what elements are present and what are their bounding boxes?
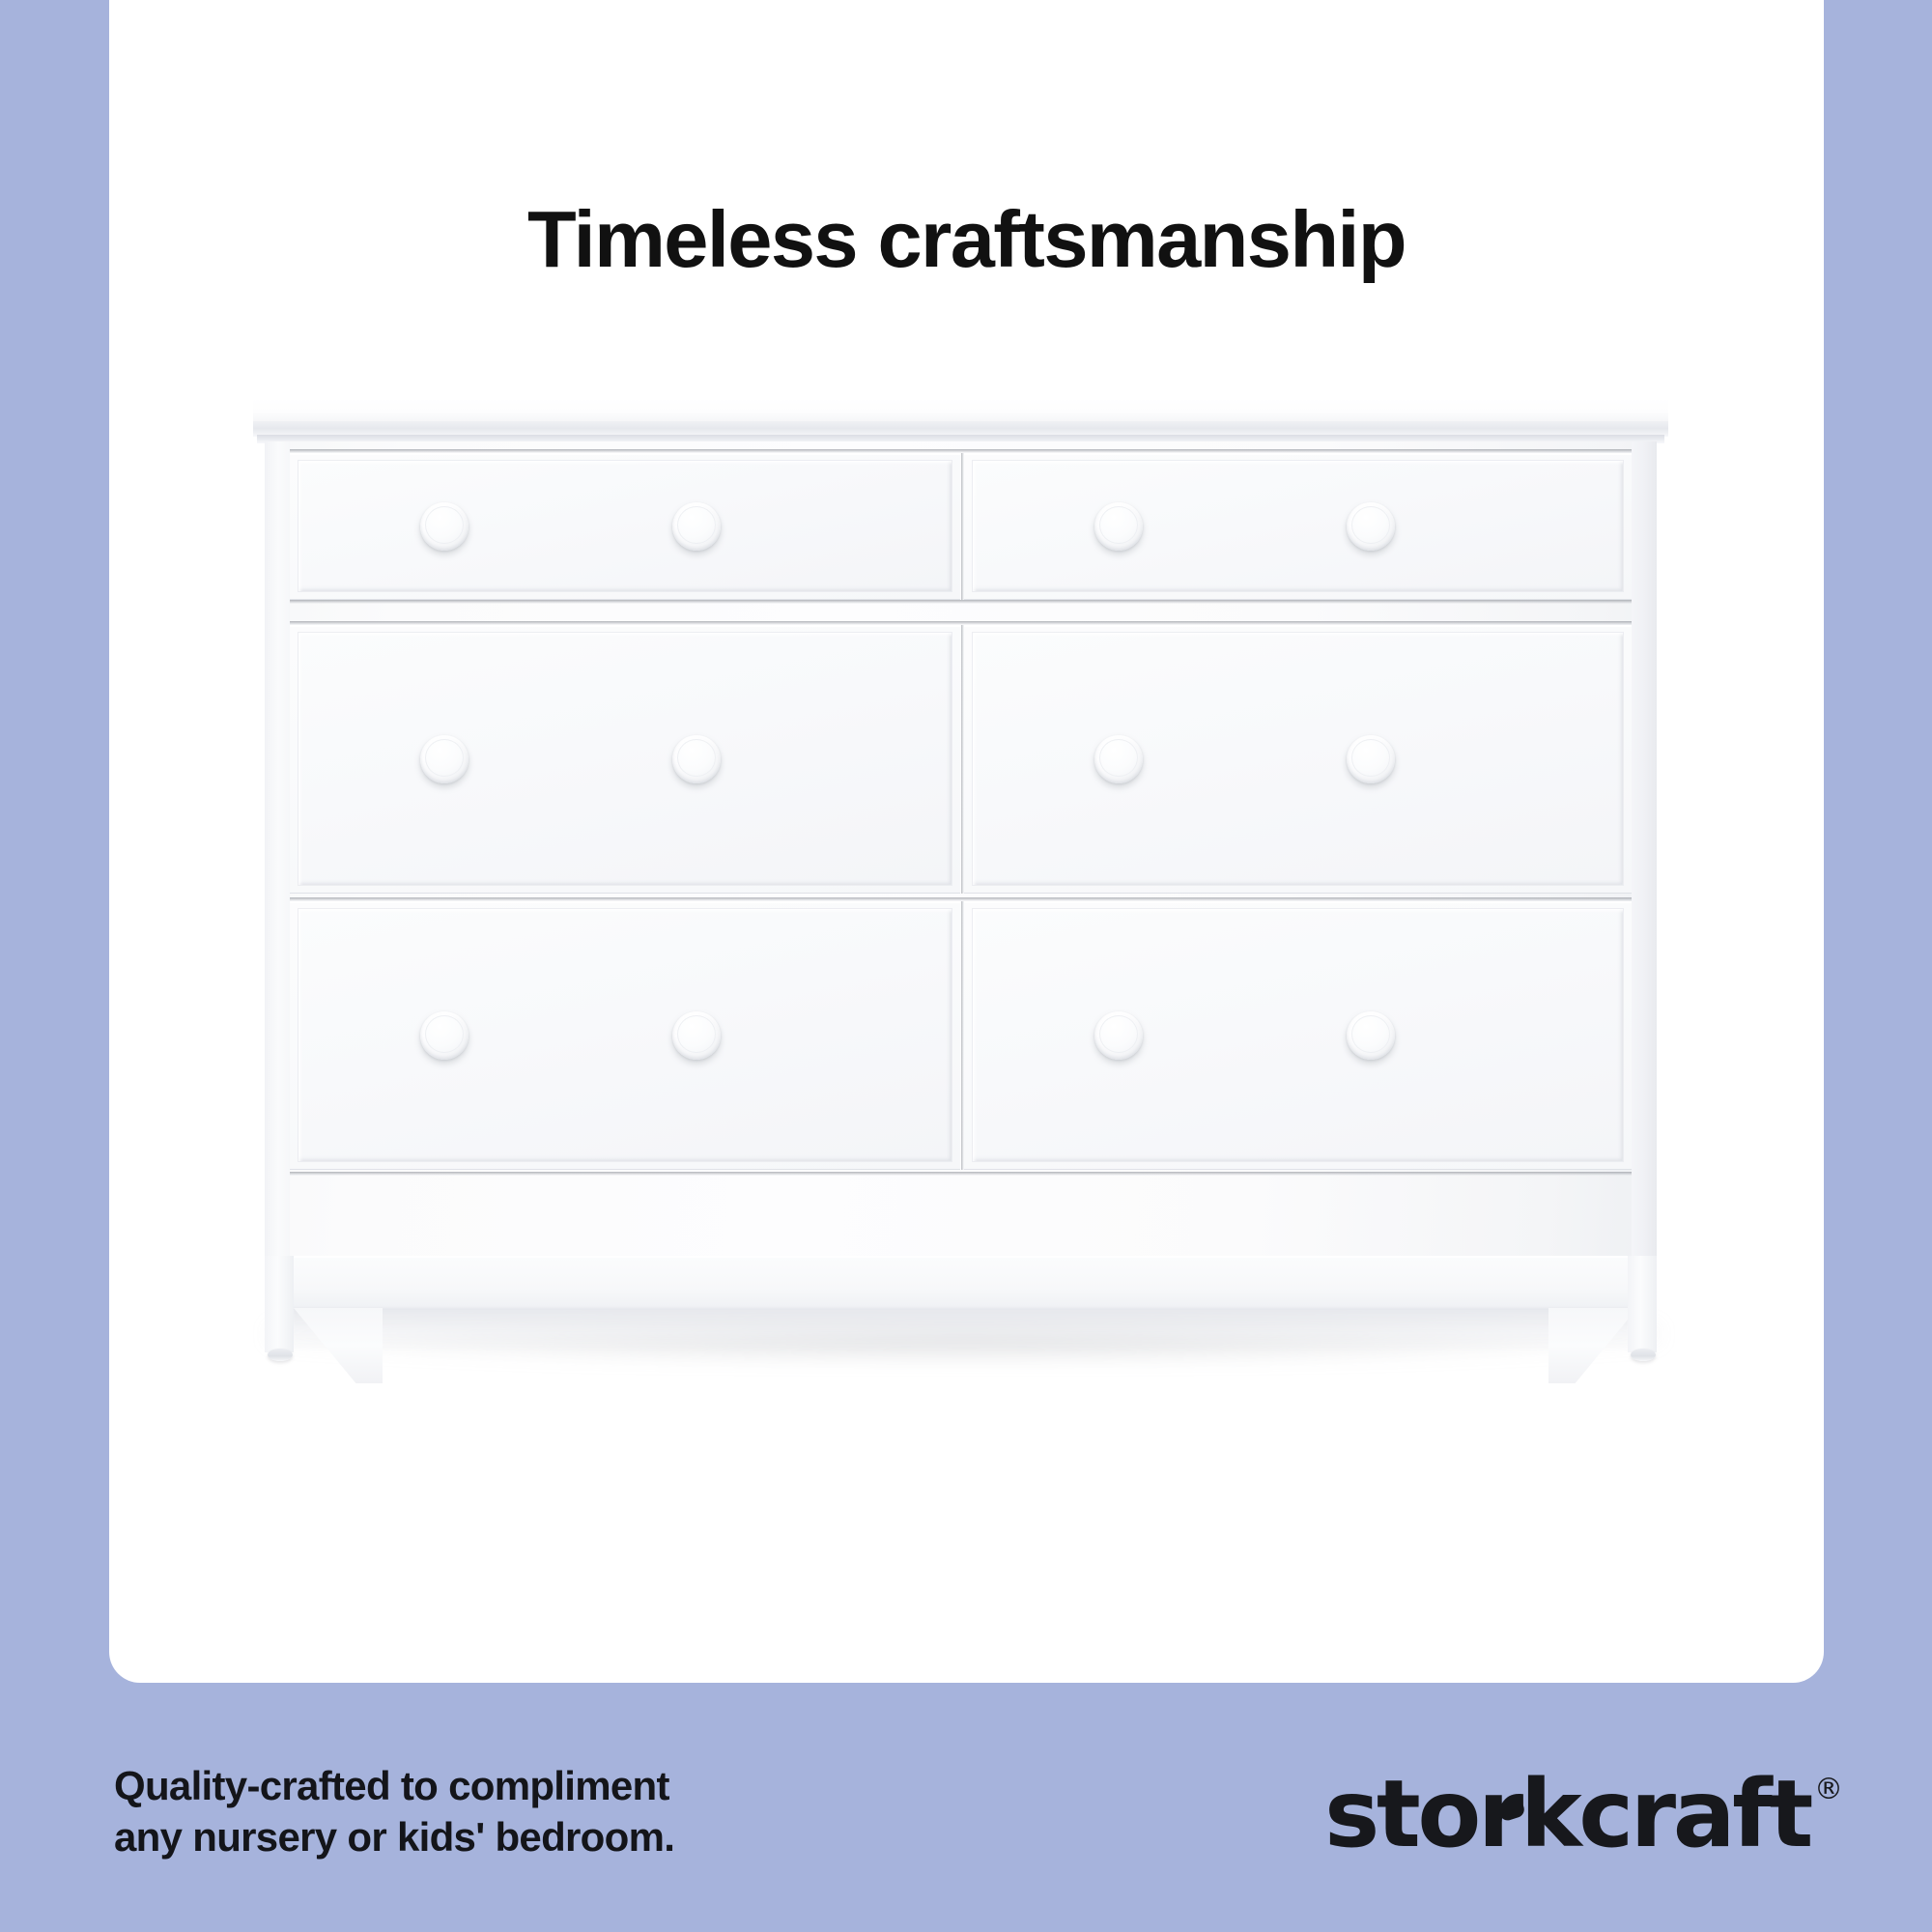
knob-top-right-b[interactable] xyxy=(1347,502,1395,551)
promo-image-canvas: Timeless craftsmanship xyxy=(0,0,1932,1932)
knob-middle-right-a[interactable] xyxy=(1094,735,1143,783)
left-foot-glide xyxy=(268,1349,293,1361)
tagline-line-1: Quality-crafted to compliment xyxy=(114,1760,674,1811)
tagline: Quality-crafted to compliment any nurser… xyxy=(114,1760,674,1862)
knob-bottom-left-b[interactable] xyxy=(672,1011,721,1060)
registered-trademark-symbol: ® xyxy=(1814,1776,1843,1804)
tagline-line-2: any nursery or kids' bedroom. xyxy=(114,1811,674,1862)
dresser-illustration xyxy=(109,290,1824,1401)
bottom-rail-seam xyxy=(290,1172,1632,1176)
front-left-leg xyxy=(265,1256,294,1360)
right-leg-brace xyxy=(1548,1308,1637,1383)
right-side-panel xyxy=(1632,441,1657,1287)
front-right-leg xyxy=(1628,1256,1657,1360)
middle-left-drawer[interactable] xyxy=(290,625,960,894)
page-title: Timeless craftsmanship xyxy=(109,197,1824,281)
knob-bottom-right-a[interactable] xyxy=(1094,1011,1143,1060)
dresser-top-surface xyxy=(253,398,1668,423)
brand-logo: storkcraft ® xyxy=(1324,1768,1843,1861)
knob-middle-right-b[interactable] xyxy=(1347,735,1395,783)
knob-top-right-a[interactable] xyxy=(1094,502,1143,551)
left-leg-brace xyxy=(294,1308,383,1383)
brand-wordmark: storkcraft xyxy=(1324,1768,1810,1861)
knob-middle-left-b[interactable] xyxy=(672,735,721,783)
right-foot-glide xyxy=(1631,1349,1656,1361)
dresser-cabinet xyxy=(265,441,1657,1287)
knob-top-left-a[interactable] xyxy=(420,502,469,551)
knob-middle-left-a[interactable] xyxy=(420,735,469,783)
apron-under-shadow xyxy=(293,1308,1629,1352)
bottom-left-drawer[interactable] xyxy=(290,901,960,1170)
left-side-panel xyxy=(265,441,290,1287)
top-right-drawer[interactable] xyxy=(964,453,1632,600)
dresser-base-apron xyxy=(265,1256,1657,1310)
top-left-drawer[interactable] xyxy=(290,453,960,600)
knob-top-left-b[interactable] xyxy=(672,502,721,551)
bottom-right-drawer[interactable] xyxy=(964,901,1632,1170)
knob-bottom-right-b[interactable] xyxy=(1347,1011,1395,1060)
product-photo xyxy=(109,290,1824,1401)
rail-1 xyxy=(290,600,1632,604)
knob-bottom-left-a[interactable] xyxy=(420,1011,469,1060)
middle-right-drawer[interactable] xyxy=(964,625,1632,894)
